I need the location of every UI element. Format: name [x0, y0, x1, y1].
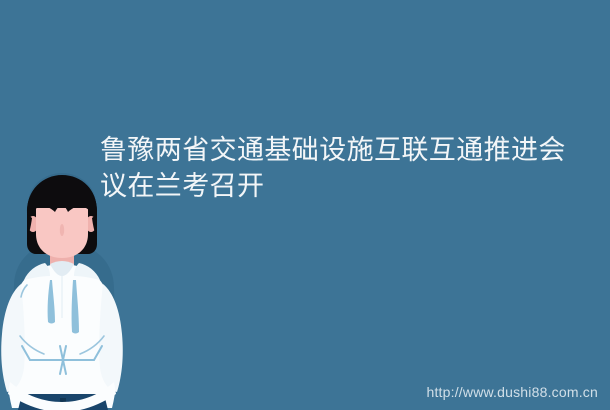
face: [36, 208, 88, 258]
person-illustration: [0, 168, 150, 410]
site-url-watermark: http://www.dushi88.com.cn: [426, 384, 598, 400]
nose-icon: [60, 224, 64, 236]
news-thumbnail-card: 鲁豫两省交通基础设施互联互通推进会议在兰考召开 http://www.dushi…: [0, 0, 610, 410]
page-title: 鲁豫两省交通基础设施互联互通推进会议在兰考召开: [100, 132, 590, 204]
